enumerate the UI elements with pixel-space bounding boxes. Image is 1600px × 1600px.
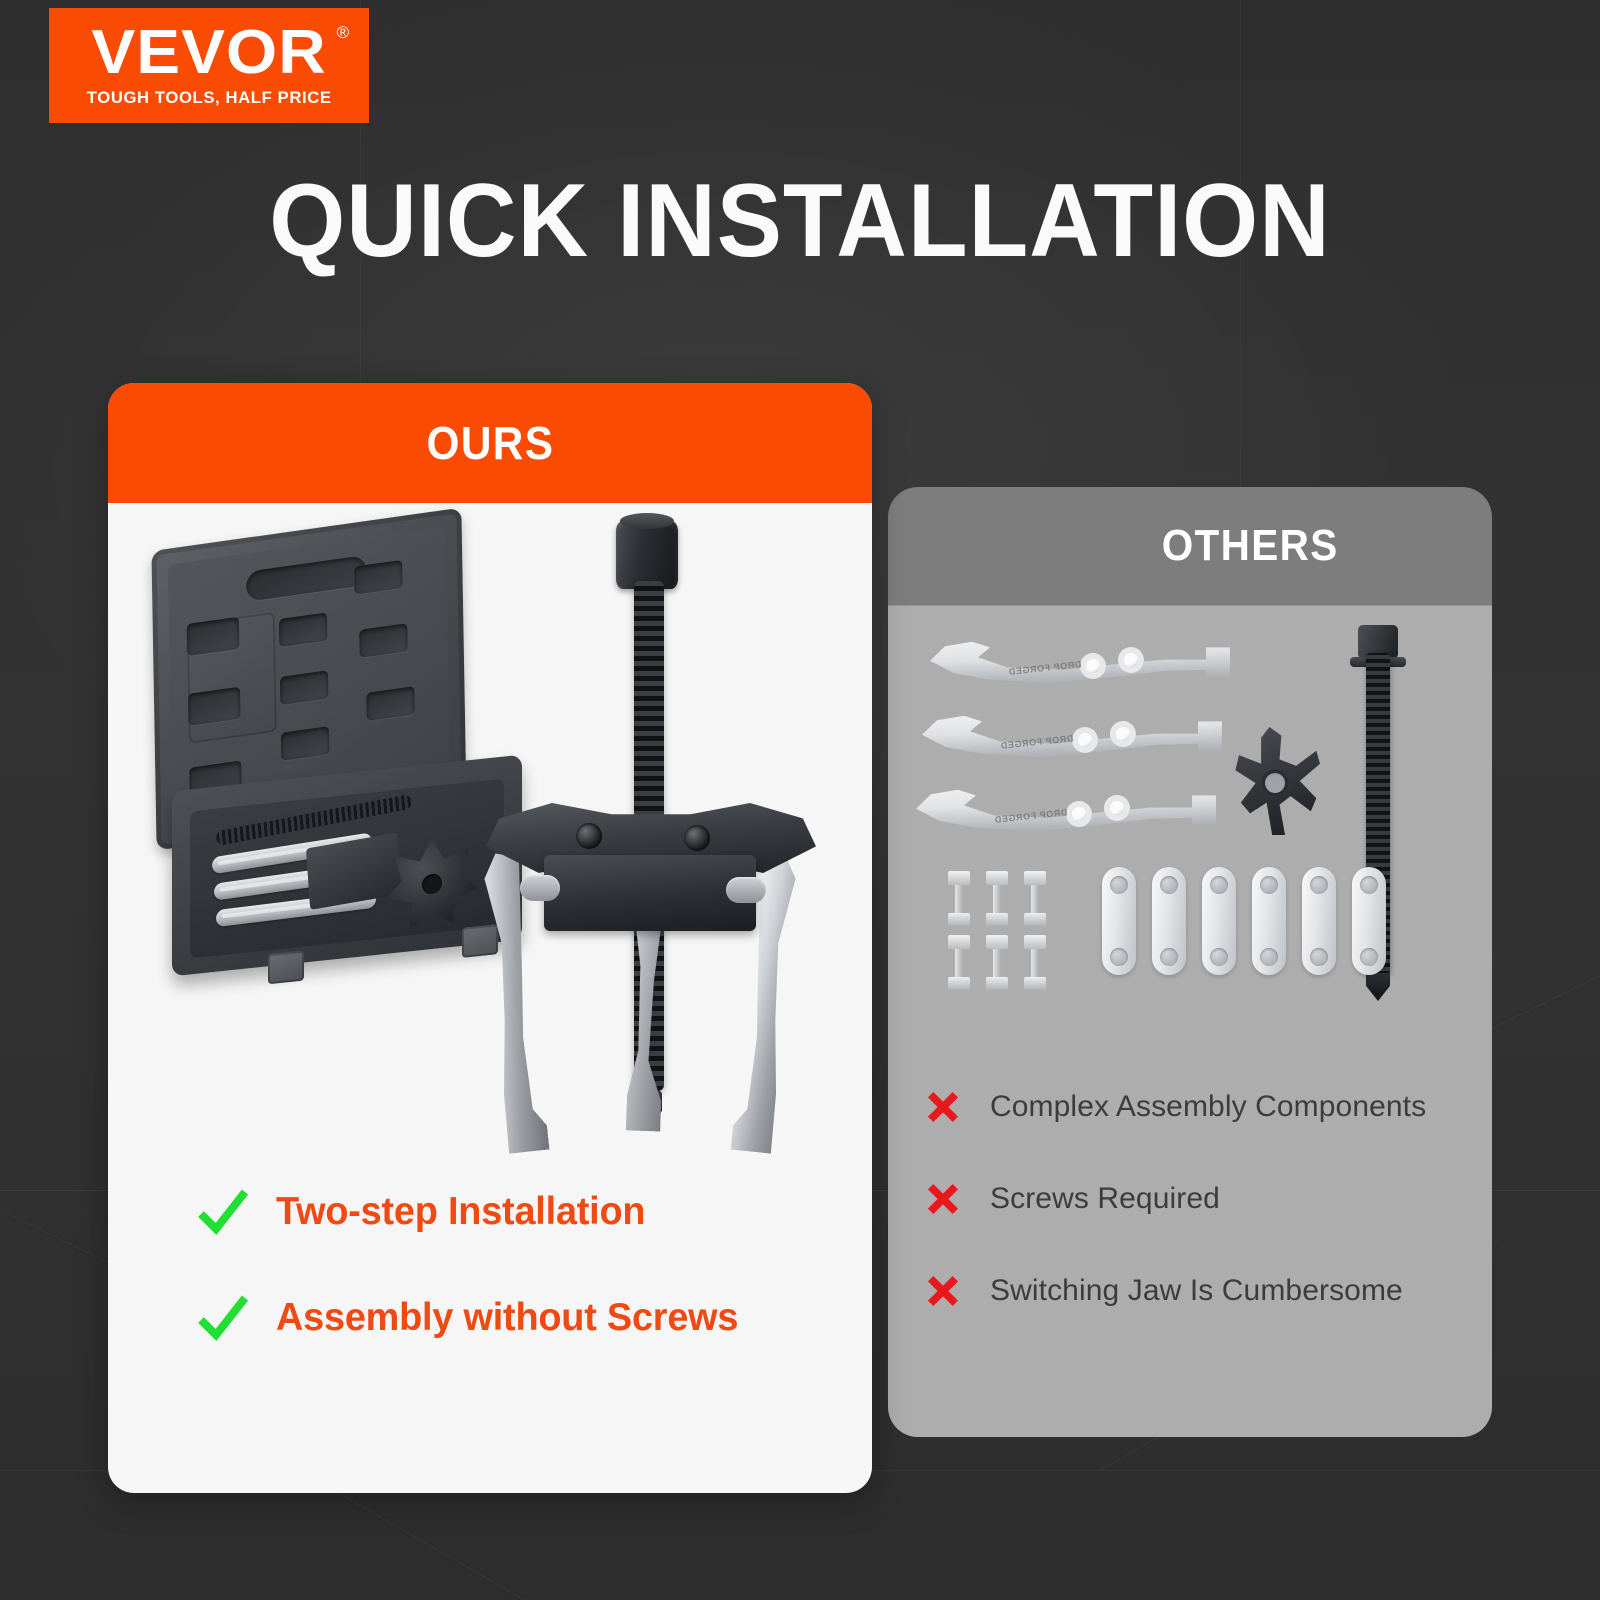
puller-pivot-pin: [726, 877, 766, 903]
puller-jaw-arm: DROP FORGED: [916, 783, 1216, 839]
bolt-nut: [948, 913, 970, 926]
bolt-and-nut: [1022, 935, 1048, 991]
puller-hub-hole: [684, 825, 710, 851]
others-bullet-label: Switching Jaw Is Cumbersome: [990, 1274, 1403, 1308]
ours-bullet-label: Assembly without Screws: [276, 1296, 738, 1340]
registered-trademark-icon: ®: [336, 25, 349, 42]
bolt-head: [948, 935, 970, 949]
bolt-nut: [1024, 913, 1046, 926]
bolt-nut: [986, 913, 1008, 926]
cross-icon: [924, 1088, 962, 1126]
bolt-head: [1024, 935, 1046, 949]
check-icon: [196, 1291, 250, 1345]
puller-hub-hole: [576, 823, 602, 849]
others-bullet-list: Complex Assembly Components Screws Requi…: [924, 1083, 1484, 1359]
case-handle: [246, 555, 367, 602]
link-plate: [1252, 867, 1286, 975]
link-plate: [1352, 867, 1386, 975]
bolt-and-nut: [946, 935, 972, 991]
others-bullet-item: Switching Jaw Is Cumbersome: [924, 1267, 1484, 1315]
cross-icon: [924, 1180, 962, 1218]
ours-bullet-label: Two-step Installation: [276, 1190, 645, 1234]
case-lid-slot: [280, 670, 328, 705]
ours-bullet-item: Two-step Installation: [196, 1183, 856, 1241]
infographic-canvas: VEVOR® TOUGH TOOLS, HALF PRICE QUICK INS…: [0, 0, 1600, 1600]
bolt-shank: [1031, 949, 1039, 979]
threaded-rod-tip: [1366, 973, 1390, 1001]
bolt-shank: [1031, 885, 1039, 915]
link-plate: [1302, 867, 1336, 975]
bolt-shank: [955, 949, 963, 979]
others-panel: OTHERS DROP FORGED DROP FORGED: [888, 487, 1492, 1437]
others-bullet-label: Complex Assembly Components: [990, 1090, 1426, 1124]
others-header: OTHERS: [888, 487, 1492, 605]
bolt-shank: [993, 885, 1001, 915]
ours-bullet-item: Assembly without Screws: [196, 1289, 856, 1347]
bolt-shank: [955, 885, 963, 915]
ours-product-photo: [108, 503, 872, 1193]
link-plate: [1152, 867, 1186, 975]
bolt-shank: [993, 949, 1001, 979]
others-bullet-item: Screws Required: [924, 1175, 1484, 1223]
case-lid-slot: [281, 726, 329, 761]
bolt-head: [986, 935, 1008, 949]
puller-pivot-pin: [520, 875, 560, 901]
puller-collar: [544, 855, 756, 931]
case-lid-slot: [366, 686, 414, 721]
bolt-nut: [986, 977, 1008, 990]
jaw-arm-hole: [1104, 795, 1130, 821]
puller-jaw-arm: DROP FORGED: [930, 635, 1230, 691]
three-jaw-gear-puller: [448, 503, 848, 1163]
link-plate: [1102, 867, 1136, 975]
bolt-head: [1024, 871, 1046, 885]
others-header-label: OTHERS: [1162, 521, 1339, 571]
puller-jaw-arm: DROP FORGED: [922, 709, 1222, 765]
link-plate: [1202, 867, 1236, 975]
ours-header: OURS: [108, 383, 872, 503]
jaw-arm-hole: [1110, 721, 1136, 747]
check-icon: [196, 1185, 250, 1239]
bolt-head: [986, 871, 1008, 885]
jaw-arm-hole: [1118, 647, 1144, 673]
case-lid-slot: [279, 612, 327, 647]
puller-drive-knob: [616, 521, 678, 589]
center-spider-part: [1228, 727, 1320, 835]
ours-bullet-list: Two-step Installation Assembly without S…: [196, 1183, 856, 1395]
jaw-arm-hole: [1066, 801, 1092, 827]
page-title: QUICK INSTALLATION: [48, 162, 1552, 281]
cross-icon: [924, 1272, 962, 1310]
jaw-arm-hole: [1072, 727, 1098, 753]
bolt-head: [948, 871, 970, 885]
others-product-parts: DROP FORGED DROP FORGED DROP FORGED: [888, 605, 1492, 1075]
ours-header-label: OURS: [426, 416, 554, 470]
others-bullet-label: Screws Required: [990, 1182, 1220, 1216]
jaw-arm-hole: [1080, 653, 1106, 679]
vevor-logo: VEVOR® TOUGH TOOLS, HALF PRICE: [49, 8, 369, 123]
bolt-and-nut: [984, 935, 1010, 991]
case-lid-slot: [354, 560, 402, 595]
bolt-and-nut: [984, 871, 1010, 927]
brand-tagline: TOUGH TOOLS, HALF PRICE: [87, 89, 332, 108]
bolt-nut: [1024, 977, 1046, 990]
ours-panel: OURS: [108, 383, 872, 1493]
case-latch: [268, 951, 304, 985]
others-bullet-item: Complex Assembly Components: [924, 1083, 1484, 1131]
bolt-and-nut: [946, 871, 972, 927]
brand-name: VEVOR®: [91, 23, 326, 84]
bolt-nut: [948, 977, 970, 990]
case-lid-slot: [359, 623, 407, 658]
bolt-and-nut: [1022, 871, 1048, 927]
